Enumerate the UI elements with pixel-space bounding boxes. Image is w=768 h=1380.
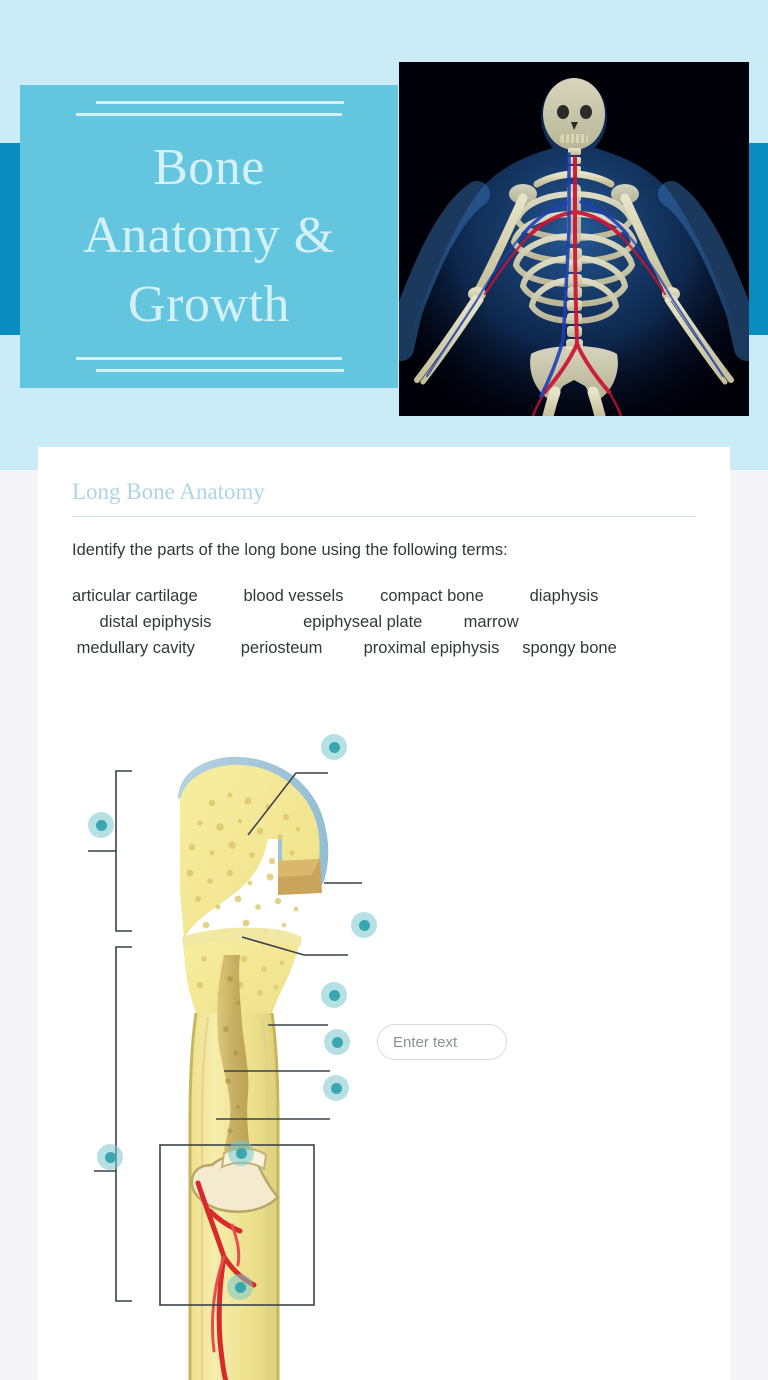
instruction-text: Identify the parts of the long bone usin… [72, 539, 696, 563]
hero-rule-bottom-2 [96, 369, 344, 372]
worksheet-page: Bone Anatomy & Growth [0, 0, 768, 1380]
hotspot-medullary-cavity[interactable] [228, 1140, 254, 1166]
hero-title-card: Bone Anatomy & Growth [20, 85, 398, 388]
skeleton-anatomy-image [399, 62, 749, 416]
page-title: Bone Anatomy & Growth [53, 116, 364, 358]
hotspot-proximal-epiphysis[interactable] [88, 812, 114, 838]
hotspot-periosteum[interactable] [323, 1075, 349, 1101]
answer-text-input[interactable] [377, 1024, 507, 1060]
worksheet-content-card: Long Bone Anatomy Identify the parts of … [38, 447, 730, 1380]
hero-rule-bottom-1 [76, 357, 342, 360]
hotspot-compact-bone[interactable] [324, 1029, 350, 1055]
hotspot-diaphysis[interactable] [97, 1144, 123, 1170]
word-bank: articular cartilage blood vessels compac… [72, 583, 696, 661]
page-title-line-2: Anatomy & [83, 207, 334, 264]
hero-rules-top [20, 101, 398, 116]
hotspot-blood-vessels[interactable] [227, 1274, 253, 1300]
hotspot-epiphyseal-plate[interactable] [321, 982, 347, 1008]
hero-rule-top-1 [96, 101, 344, 104]
hotspot-articular-cartilage[interactable] [351, 912, 377, 938]
section-divider [72, 516, 696, 517]
hero-rules-bottom [20, 357, 398, 372]
section-heading: Long Bone Anatomy [72, 479, 696, 505]
long-bone-diagram [72, 741, 696, 1380]
page-title-line-1: Bone [153, 139, 265, 196]
hotspot-spongy-bone[interactable] [321, 734, 347, 760]
page-title-line-3: Growth [128, 276, 290, 333]
